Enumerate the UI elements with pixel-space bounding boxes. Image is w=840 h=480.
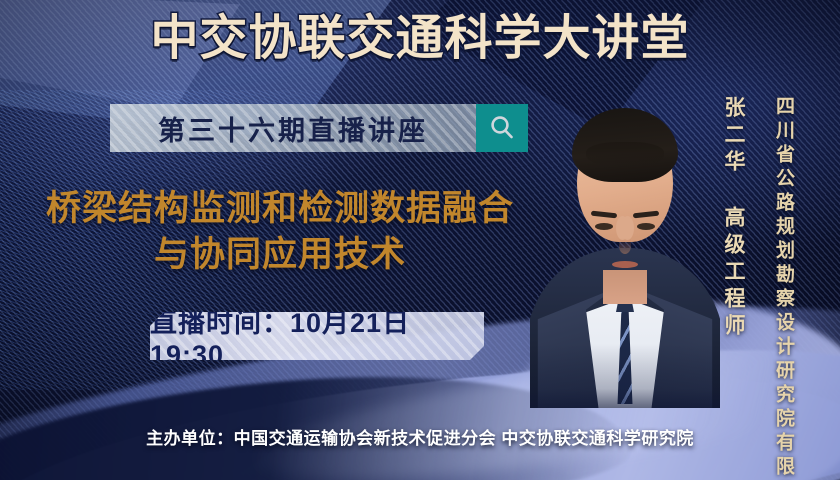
portrait-neck	[603, 270, 647, 304]
broadcast-time-label: 直播时间：10月21日19:30	[150, 312, 484, 360]
webinar-poster: 中交协联交通科学大讲堂 第三十六期直播讲座 桥梁结构监测和检测数据融合 与协同应…	[0, 0, 840, 480]
speaker-organization: 四川省公路规划勘察设计研究院有限公司	[770, 96, 797, 480]
speaker-portrait	[530, 78, 720, 408]
portrait-ear-right	[616, 216, 629, 240]
session-bar-body: 第三十六期直播讲座	[110, 104, 476, 152]
portrait-brow-right	[591, 211, 617, 219]
page-title: 中交协联交通科学大讲堂	[0, 14, 840, 65]
portrait-hair	[572, 108, 678, 182]
search-button[interactable]	[476, 104, 528, 152]
session-label: 第三十六期直播讲座	[158, 109, 428, 148]
portrait-nose	[619, 238, 631, 254]
broadcast-time-chip: 直播时间：10月21日19:30	[150, 312, 484, 360]
portrait-eye-right	[595, 223, 613, 230]
organizer-footer: 主办单位：中国交通运输协会新技术促进分会 中交协联交通科学研究院	[0, 424, 840, 449]
portrait-mouth	[612, 261, 638, 268]
speaker-name-title: 张二华 高级工程师	[718, 96, 748, 341]
session-bar: 第三十六期直播讲座	[110, 104, 528, 152]
topic-line-2: 与协同应用技术	[10, 232, 550, 278]
lecture-topic: 桥梁结构监测和检测数据融合 与协同应用技术	[10, 186, 550, 278]
topic-line-1: 桥梁结构监测和检测数据融合	[10, 186, 550, 232]
portrait-brow-left	[633, 211, 659, 219]
search-icon	[487, 113, 517, 143]
portrait-eye-left	[637, 223, 655, 230]
portrait-bottom-fade	[530, 344, 720, 408]
